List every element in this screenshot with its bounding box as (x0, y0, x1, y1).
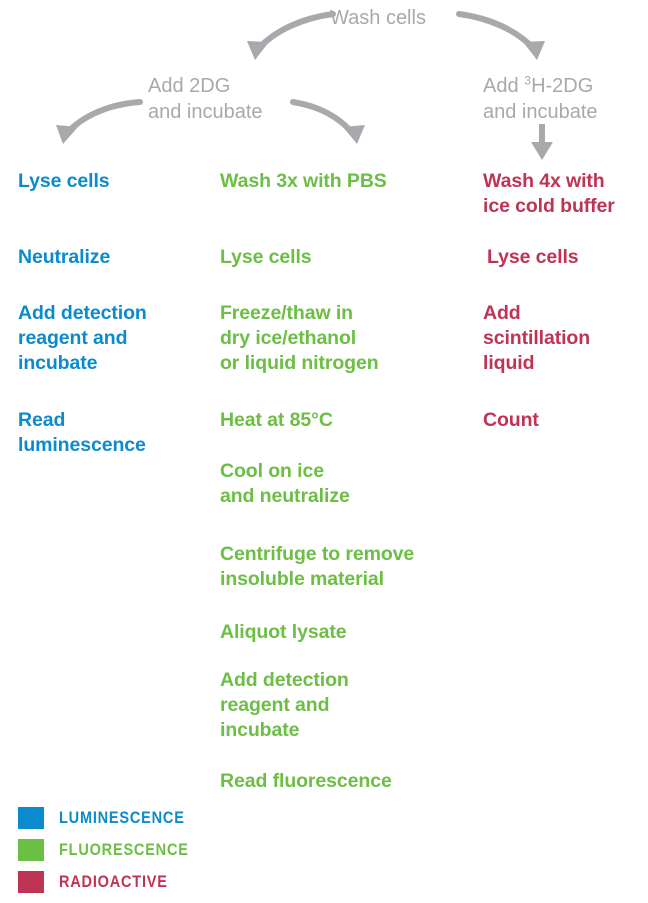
legend-label-fluorescence: FLUORESCENCE (59, 841, 189, 860)
step-lum-1-line-0: Neutralize (18, 246, 110, 269)
legend-label-radioactive: RADIOACTIVE (59, 873, 168, 892)
step-flu-3-line-0: Heat at 85°C (220, 409, 333, 432)
step-rad-0-line-0: Wash 4x with (483, 170, 605, 193)
flow-label-add-3h-2dg-line1: Add 3H-2DG (483, 74, 593, 98)
legend-item-luminescence: LUMINESCENCE (18, 805, 206, 831)
legend-swatch-radioactive (18, 871, 44, 893)
step-flu-4-line-0: Cool on ice (220, 460, 324, 483)
step-flu-6-line-0: Aliquot lysate (220, 621, 346, 644)
step-flu-2-line-0: Freeze/thaw in (220, 302, 353, 325)
step-rad-2-line-1: scintillation (483, 327, 590, 350)
step-lum-2-line-1: reagent and (18, 327, 127, 350)
step-flu-4-line-1: and neutralize (220, 485, 350, 508)
arrow-2dg-to-fluorescence (287, 96, 377, 152)
flow-label-add-3h-2dg-line2: and incubate (483, 100, 598, 124)
step-flu-2-line-2: or liquid nitrogen (220, 352, 379, 375)
step-lum-0-line-0: Lyse cells (18, 170, 110, 193)
step-lum-3-line-1: luminescence (18, 434, 146, 457)
step-rad-0-line-1: ice cold buffer (483, 195, 615, 218)
step-lum-3-line-0: Read (18, 409, 65, 432)
flow-label-add-2dg-line1: Add 2DG (148, 74, 230, 98)
legend-label-luminescence: LUMINESCENCE (59, 809, 185, 828)
legend-swatch-luminescence (18, 807, 44, 829)
step-flu-7-line-0: Add detection (220, 669, 349, 692)
add-3h-2dg-prefix: Add (483, 75, 524, 97)
step-rad-2-line-2: liquid (483, 352, 534, 375)
step-flu-5-line-0: Centrifuge to remove (220, 543, 414, 566)
legend: LUMINESCENCE FLUORESCENCE RADIOACTIVE (18, 805, 206, 901)
arrow-wash-to-right (455, 8, 565, 68)
step-flu-0-line-0: Wash 3x with PBS (220, 170, 387, 193)
arrow-3h2dg-down (528, 122, 556, 164)
step-flu-1-line-0: Lyse cells (220, 246, 312, 269)
workflow-diagram: Wash cells Add 2DG and incubate Add 3H-2… (0, 0, 648, 903)
step-flu-2-line-1: dry ice/ethanol (220, 327, 356, 350)
arrow-2dg-to-luminescence (32, 96, 152, 152)
step-flu-7-line-1: reagent and (220, 694, 329, 717)
legend-item-fluorescence: FLUORESCENCE (18, 837, 206, 863)
step-lum-2-line-2: incubate (18, 352, 97, 375)
step-rad-2-line-0: Add (483, 302, 521, 325)
step-flu-5-line-1: insoluble material (220, 568, 384, 591)
step-rad-1-line-0: Lyse cells (487, 246, 579, 269)
step-lum-2-line-0: Add detection (18, 302, 147, 325)
step-flu-7-line-2: incubate (220, 719, 299, 742)
legend-item-radioactive: RADIOACTIVE (18, 869, 206, 895)
flow-label-add-2dg-line2: and incubate (148, 100, 263, 124)
step-rad-3-line-0: Count (483, 409, 539, 432)
arrow-wash-to-left (225, 8, 345, 68)
add-3h-2dg-rest: H-2DG (531, 75, 593, 97)
legend-swatch-fluorescence (18, 839, 44, 861)
step-flu-8-line-0: Read fluorescence (220, 770, 392, 793)
